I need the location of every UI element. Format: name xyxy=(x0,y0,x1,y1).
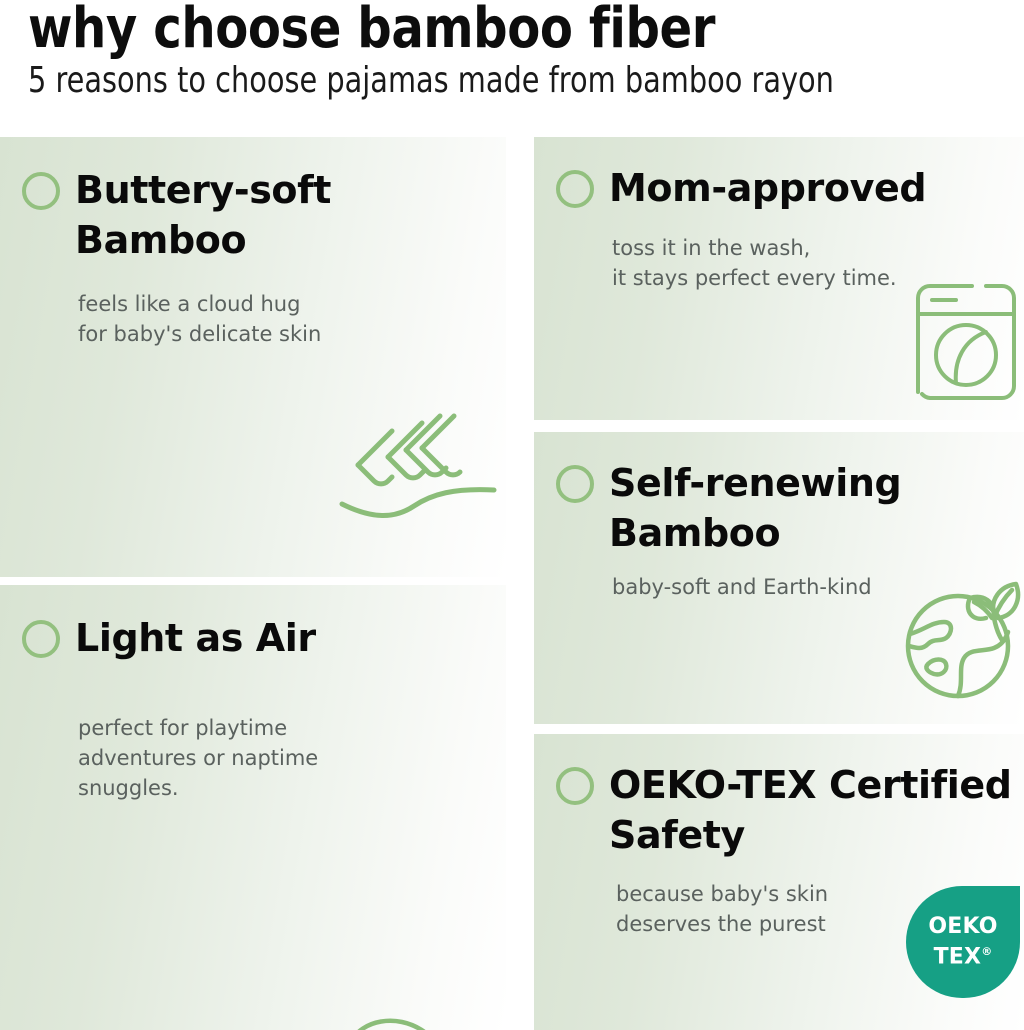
oeko-tex-logo-text: TEX xyxy=(934,945,982,970)
registered-mark-icon: ® xyxy=(981,945,992,958)
bullet-circle-icon xyxy=(556,170,594,208)
card-title: Self-renewing Bamboo xyxy=(609,458,1009,558)
bullet-circle-icon xyxy=(556,465,594,503)
bullet-circle-icon xyxy=(22,620,60,658)
card-header: Self-renewing Bamboo xyxy=(556,458,1009,558)
page-title: why choose bamboo fiber xyxy=(28,0,715,60)
card-body-text: perfect for playtime adventures or napti… xyxy=(78,713,318,803)
feather-icon xyxy=(326,1010,506,1030)
right-column: Mom-approved toss it in the wash, it sta… xyxy=(534,137,1024,1030)
card-mom-approved: Mom-approved toss it in the wash, it sta… xyxy=(534,137,1024,420)
bullet-circle-icon xyxy=(22,172,60,210)
card-body-text: baby-soft and Earth-kind xyxy=(612,572,872,602)
page-subtitle: 5 reasons to choose pajamas made from ba… xyxy=(28,60,834,102)
card-header: Light as Air xyxy=(22,613,316,663)
bullet-circle-icon xyxy=(556,767,594,805)
card-buttery-soft-bamboo: Buttery-soft Bamboo feels like a cloud h… xyxy=(0,137,506,577)
card-self-renewing-bamboo: Self-renewing Bamboo baby-soft and Earth… xyxy=(534,432,1024,724)
card-title: Light as Air xyxy=(75,613,316,663)
card-header: OEKO-TEX Certified Safety xyxy=(556,760,1024,860)
oeko-tex-logo-line2: TEX® xyxy=(934,939,993,969)
oeko-tex-logo: OEKO TEX® xyxy=(906,886,1020,998)
card-header: Buttery-soft Bamboo xyxy=(22,165,475,265)
hand-touch-icon xyxy=(336,402,502,532)
earth-leaf-icon xyxy=(902,572,1024,702)
oeko-tex-logo-line1: OEKO xyxy=(928,914,997,939)
card-body-text: because baby's skin deserves the purest xyxy=(616,879,828,939)
card-title: Mom-approved xyxy=(609,163,926,213)
infographic-page: why choose bamboo fiber 5 reasons to cho… xyxy=(0,0,1024,1030)
card-oeko-tex-certified-safety: OEKO-TEX Certified Safety because baby's… xyxy=(534,734,1024,1030)
card-light-as-air: Light as Air perfect for playtime advent… xyxy=(0,585,506,1030)
card-body-text: toss it in the wash, it stays perfect ev… xyxy=(612,233,897,293)
card-header: Mom-approved xyxy=(556,163,926,213)
card-title: OEKO-TEX Certified Safety xyxy=(609,760,1024,860)
card-title: Buttery-soft Bamboo xyxy=(75,165,475,265)
washing-machine-icon xyxy=(914,282,1018,402)
header: why choose bamboo fiber 5 reasons to cho… xyxy=(0,0,1024,130)
card-body-text: feels like a cloud hug for baby's delica… xyxy=(78,289,321,349)
left-column: Buttery-soft Bamboo feels like a cloud h… xyxy=(0,137,506,1030)
